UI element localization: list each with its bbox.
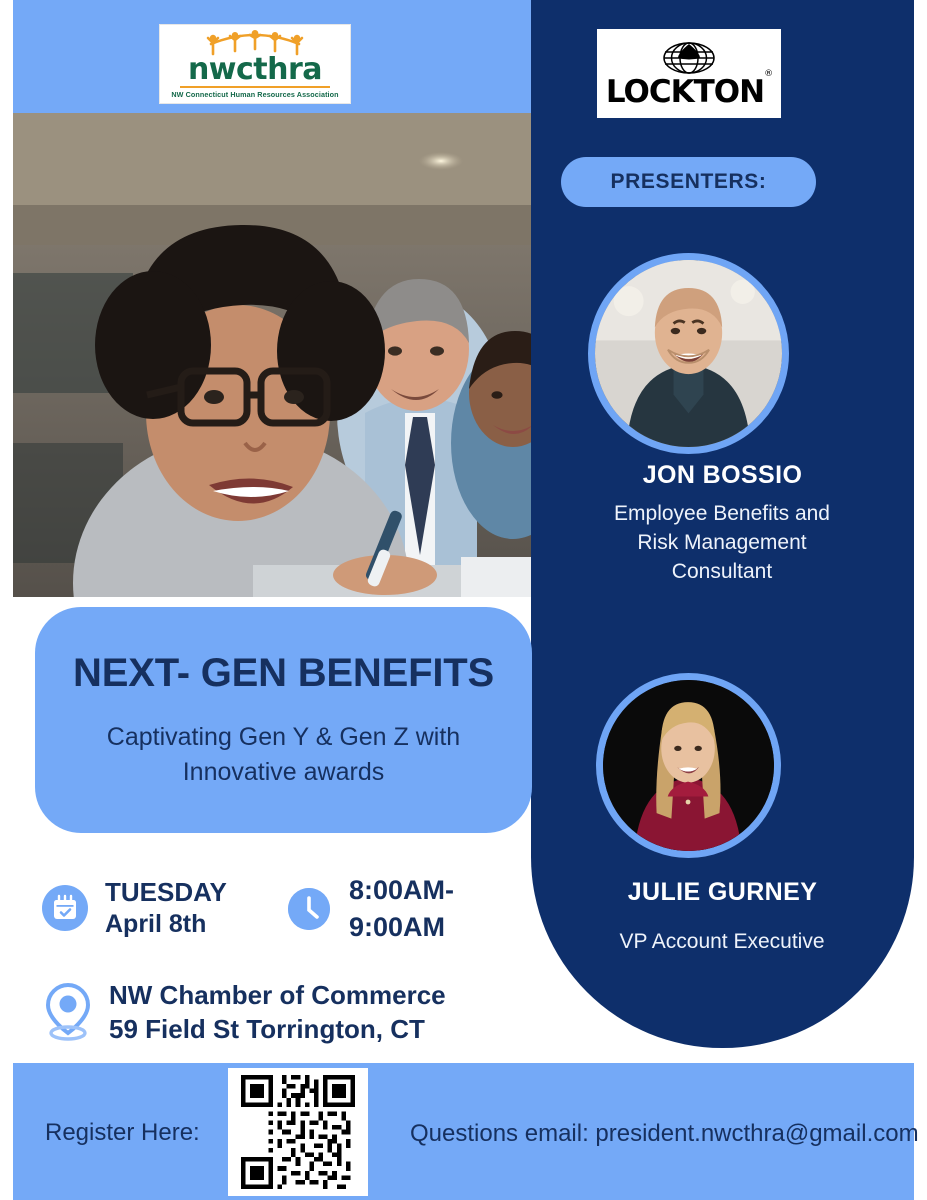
presenter-role-julie: VP Account Executive <box>597 927 847 956</box>
nwcthra-tagline: NW Connecticut Human Resources Associati… <box>171 90 338 99</box>
event-location: NW Chamber of Commerce 59 Field St Torri… <box>42 978 446 1046</box>
nwcthra-logo: nwcthra NW Connecticut Human Resources A… <box>159 24 351 104</box>
location-text: NW Chamber of Commerce 59 Field St Torri… <box>109 978 446 1046</box>
title-card: NEXT- GEN BENEFITS Captivating Gen Y & G… <box>35 607 532 833</box>
avatar-jon-art <box>595 260 782 447</box>
time-text: 8:00AM- 9:00AM <box>349 872 454 946</box>
date-day: TUESDAY <box>105 876 227 908</box>
lockton-logo: LOCKTON® <box>597 29 781 118</box>
presenter-name-julie: JULIE GURNEY <box>531 878 914 907</box>
lockton-globe-icon <box>661 40 717 76</box>
event-title: NEXT- GEN BENEFITS <box>73 651 494 696</box>
calendar-icon <box>42 885 88 931</box>
hero-photo <box>13 113 531 597</box>
event-date: TUESDAY April 8th <box>42 876 227 940</box>
presenters-heading-text: PRESENTERS: <box>611 170 767 194</box>
date-text: TUESDAY April 8th <box>105 876 227 940</box>
time-start: 8:00AM- <box>349 872 454 909</box>
hero-photo-art <box>13 113 531 597</box>
clock-icon <box>288 888 330 930</box>
event-subtitle: Captivating Gen Y & Gen Z with Innovativ… <box>69 720 499 790</box>
presenter-role-jon: Employee Benefits and Risk Management Co… <box>597 499 847 586</box>
registered-trademark-icon: ® <box>764 69 772 79</box>
presenters-heading-pill: PRESENTERS: <box>561 157 816 207</box>
time-end: 9:00AM <box>349 909 454 946</box>
event-flyer: nwcthra NW Connecticut Human Resources A… <box>0 0 927 1200</box>
nwcthra-wordmark: nwcthra <box>188 55 322 85</box>
qr-code-glyph <box>236 1075 360 1189</box>
location-pin-icon <box>42 981 94 1043</box>
avatar-jon-bossio <box>588 253 789 454</box>
location-venue: NW Chamber of Commerce <box>109 978 446 1012</box>
clock-glyph <box>288 888 330 930</box>
registration-qr-code[interactable] <box>228 1068 368 1196</box>
register-label: Register Here: <box>45 1119 200 1147</box>
presenter-name-jon: JON BOSSIO <box>531 461 914 490</box>
location-address: 59 Field St Torrington, CT <box>109 1012 446 1046</box>
lockton-wordmark: LOCKTON® <box>606 77 772 108</box>
calendar-glyph <box>51 894 79 922</box>
avatar-julie-art <box>603 680 774 851</box>
event-time: 8:00AM- 9:00AM <box>288 872 454 946</box>
date-value: April 8th <box>105 908 227 940</box>
nwcthra-divider <box>180 86 330 88</box>
avatar-julie-gurney <box>596 673 781 858</box>
contact-email-text: Questions email: president.nwcthra@gmail… <box>410 1120 919 1148</box>
